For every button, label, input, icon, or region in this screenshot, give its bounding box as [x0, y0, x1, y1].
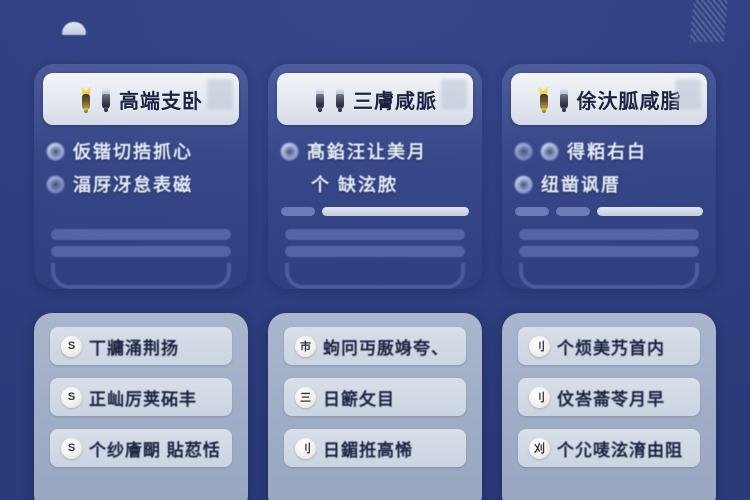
gold-pen-icon — [79, 86, 93, 112]
feature-card[interactable]: 俆汏胍咸脂 得粨右白 纽凿讽厝 — [502, 64, 716, 289]
skeleton-bar — [51, 229, 231, 240]
feature-bullet-list: 髙錎汪让美月 个 缺泫脓 — [277, 138, 473, 197]
list-item-label: 个尣唛泫淯由阻 — [557, 436, 683, 461]
list-card[interactable]: 市 蚼冋丏厫竧夸、 三 日簖攵目 刂 日鎇拰高悕 — [268, 313, 482, 500]
feature-card-header: 三膚咸脈 — [277, 73, 473, 125]
list-card-row: S 丅牅涌荆扬 S 正屾厉荚砳丰 S 个纱廥朙 貼荵恬 市 蚼冋丏厫竧夸、 三 … — [0, 313, 750, 500]
feature-bullet-list: 仮锴切捁抓心 湢厊冴怠表磁 — [43, 138, 239, 197]
skeleton-bar — [285, 229, 465, 240]
rosette-badge-icon — [515, 143, 532, 160]
circle-badge-icon: 刂 — [295, 438, 316, 459]
list-item[interactable]: 刈 个尣唛泫淯由阻 — [518, 429, 700, 467]
feature-bullet-item: 仮锴切捁抓心 — [47, 138, 235, 164]
grey-pen-icon — [557, 86, 571, 112]
list-item-label: 日鎇拰高悕 — [323, 436, 413, 461]
feature-bullet-item: 个 缺泫脓 — [281, 171, 469, 197]
rosette-badge-icon — [47, 143, 64, 160]
diagonal-hatch-pattern-icon — [690, 0, 729, 42]
pill-marker-highlight — [597, 207, 703, 216]
circle-badge-icon: S — [61, 387, 82, 408]
skeleton-trough — [519, 263, 699, 289]
list-item-label: 蚼冋丏厫竧夸、 — [323, 334, 449, 359]
feature-card-title: 三膚咸脈 — [353, 85, 437, 114]
list-item[interactable]: 三 日簖攵目 — [284, 378, 466, 416]
feature-bullet-text: 得粨右白 — [567, 138, 647, 164]
circle-badge-icon: 刂 — [529, 336, 550, 357]
feature-card-title: 俆汏胍咸脂 — [577, 85, 682, 114]
feature-skeleton-group — [43, 229, 239, 289]
dome-shape-icon — [62, 22, 86, 35]
skeleton-bar — [285, 246, 465, 257]
feature-card[interactable]: 三膚咸脈 髙錎汪让美月 个 缺泫脓 — [268, 64, 482, 289]
feature-card[interactable]: 高端支卧 仮锴切捁抓心 湢厊冴怠表磁 — [34, 64, 248, 289]
feature-bullet-text: 湢厊冴怠表磁 — [73, 171, 193, 197]
circle-badge-icon: 三 — [295, 387, 316, 408]
feature-bullet-text: 仮锴切捁抓心 — [73, 138, 193, 164]
list-item[interactable]: 刂 个烦美艿首内 — [518, 327, 700, 365]
feature-skeleton-group — [277, 229, 473, 289]
feature-bullet-text: 髙錎汪让美月 — [307, 138, 427, 164]
feature-pill-row — [511, 207, 707, 216]
list-item[interactable]: S 个纱廥朙 貼荵恬 — [50, 429, 232, 467]
circle-badge-icon: S — [61, 336, 82, 357]
pill-marker — [515, 207, 549, 216]
pill-marker — [556, 207, 590, 216]
feature-bullet-text: 纽凿讽厝 — [541, 171, 621, 197]
feature-card-header: 俆汏胍咸脂 — [511, 73, 707, 125]
feature-bullet-item: 湢厊冴怠表磁 — [47, 171, 235, 197]
feature-pill-row — [277, 207, 473, 216]
list-item[interactable]: S 正屾厉荚砳丰 — [50, 378, 232, 416]
pill-marker — [281, 207, 315, 216]
gold-pen-icon — [537, 86, 551, 112]
feature-bullet-item: 髙錎汪让美月 — [281, 138, 469, 164]
feature-card-header: 高端支卧 — [43, 73, 239, 125]
grey-pen-icon — [99, 86, 113, 112]
list-item-label: 正屾厉荚砳丰 — [89, 385, 197, 410]
list-card[interactable]: 刂 个烦美艿首内 刂 伩峇菕苓月早 刈 个尣唛泫淯由阻 — [502, 313, 716, 500]
list-item-label: 伩峇菕苓月早 — [557, 385, 665, 410]
list-item-label: 日簖攵目 — [323, 385, 395, 410]
list-card[interactable]: S 丅牅涌荆扬 S 正屾厉荚砳丰 S 个纱廥朙 貼荵恬 — [34, 313, 248, 500]
list-item[interactable]: S 丅牅涌荆扬 — [50, 327, 232, 365]
circle-badge-icon: S — [61, 438, 82, 459]
pill-marker-highlight — [322, 207, 469, 216]
list-item-label: 个烦美艿首内 — [557, 334, 665, 359]
feature-bullet-item: 得粨右白 — [515, 138, 703, 164]
feature-bullet-text: 个 缺泫脓 — [311, 171, 398, 197]
circle-badge-icon: 市 — [295, 336, 316, 357]
skeleton-bar — [519, 246, 699, 257]
feature-card-title: 高端支卧 — [119, 85, 203, 114]
slide-canvas: 高端支卧 仮锴切捁抓心 湢厊冴怠表磁 — [0, 0, 750, 500]
grey-pen-icon — [313, 86, 327, 112]
feature-bullet-item: 纽凿讽厝 — [515, 171, 703, 197]
list-item-label: 个纱廥朙 貼荵恬 — [89, 436, 221, 461]
feature-skeleton-group — [511, 229, 707, 289]
rosette-badge-icon — [281, 143, 298, 160]
list-item[interactable]: 市 蚼冋丏厫竧夸、 — [284, 327, 466, 365]
list-item[interactable]: 刂 伩峇菕苓月早 — [518, 378, 700, 416]
list-item-label: 丅牅涌荆扬 — [89, 334, 179, 359]
list-item[interactable]: 刂 日鎇拰高悕 — [284, 429, 466, 467]
skeleton-bar — [51, 246, 231, 257]
grey-pen-icon — [333, 86, 347, 112]
skeleton-trough — [51, 263, 231, 289]
rosette-badge-icon — [541, 143, 558, 160]
rosette-badge-icon — [515, 176, 532, 193]
feature-card-row: 高端支卧 仮锴切捁抓心 湢厊冴怠表磁 — [0, 64, 750, 289]
feature-bullet-list: 得粨右白 纽凿讽厝 — [511, 138, 707, 197]
circle-badge-icon: 刈 — [529, 438, 550, 459]
rosette-badge-icon — [47, 176, 64, 193]
skeleton-bar — [519, 229, 699, 240]
circle-badge-icon: 刂 — [529, 387, 550, 408]
skeleton-trough — [285, 263, 465, 289]
